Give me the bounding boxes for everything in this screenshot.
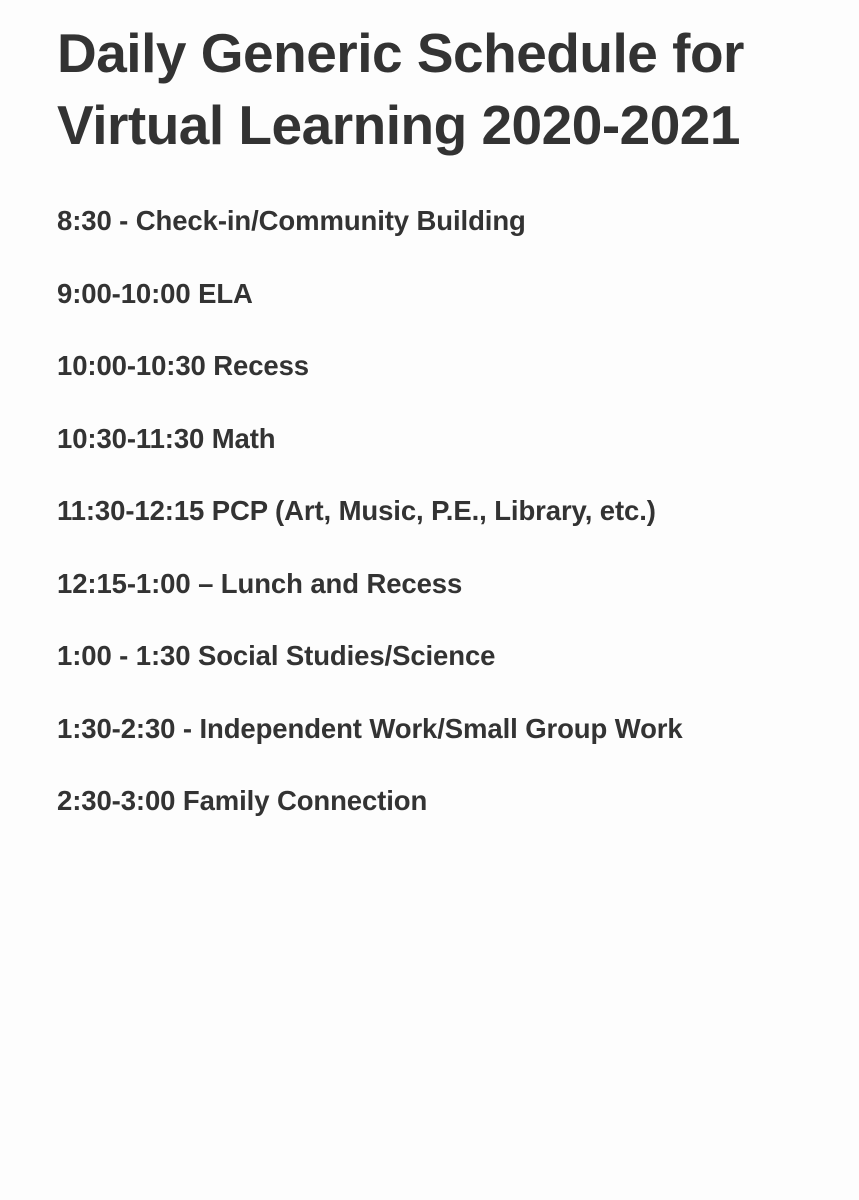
schedule-entry: 10:30-11:30 Math: [57, 417, 757, 462]
page-title: Daily Generic Schedule for Virtual Learn…: [57, 18, 797, 161]
schedule-entry: 8:30 - Check-in/Community Building: [57, 199, 757, 244]
schedule-entry: 9:00-10:00 ELA: [57, 272, 757, 317]
schedule-entry: 1:00 - 1:30 Social Studies/Science: [57, 634, 757, 679]
schedule-entry: 1:30-2:30 - Independent Work/Small Group…: [57, 707, 757, 752]
schedule-entry: 10:00-10:30 Recess: [57, 344, 757, 389]
schedule-list: 8:30 - Check-in/Community Building 9:00-…: [57, 199, 797, 824]
document-page: Daily Generic Schedule for Virtual Learn…: [0, 0, 859, 1200]
schedule-entry: 11:30-12:15 PCP (Art, Music, P.E., Libra…: [57, 489, 757, 534]
schedule-entry: 12:15-1:00 – Lunch and Recess: [57, 562, 757, 607]
schedule-entry: 2:30-3:00 Family Connection: [57, 779, 757, 824]
